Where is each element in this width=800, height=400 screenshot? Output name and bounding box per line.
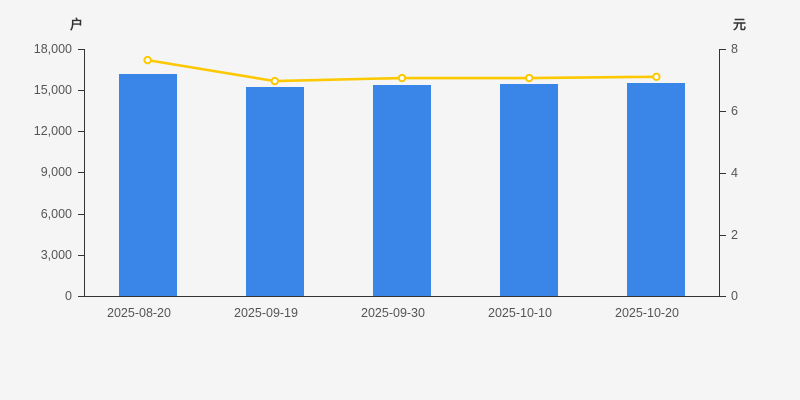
right-tick-mark <box>720 173 726 174</box>
right-tick-label: 6 <box>731 105 781 118</box>
line-marker-2025-10-20[interactable] <box>653 74 659 80</box>
left-tick-label: 12,000 <box>8 125 72 138</box>
bar-2025-09-19[interactable] <box>246 87 304 296</box>
x-axis-label: 2025-09-19 <box>207 307 325 320</box>
left-tick-mark <box>78 49 84 50</box>
left-tick-label: 9,000 <box>8 166 72 179</box>
x-axis-label: 2025-09-30 <box>334 307 452 320</box>
line-marker-2025-08-20[interactable] <box>144 57 150 63</box>
right-tick-label: 2 <box>731 229 781 242</box>
right-tick-label: 8 <box>731 43 781 56</box>
bar-2025-09-30[interactable] <box>373 85 431 296</box>
left-tick-mark <box>78 90 84 91</box>
x-axis-label: 2025-10-10 <box>461 307 579 320</box>
line-marker-2025-09-30[interactable] <box>399 75 405 81</box>
line-marker-2025-10-10[interactable] <box>526 75 532 81</box>
bar-2025-10-20[interactable] <box>627 83 685 296</box>
left-tick-label: 18,000 <box>8 43 72 56</box>
bar-2025-10-10[interactable] <box>500 84 558 296</box>
right-tick-label: 4 <box>731 167 781 180</box>
left-tick-mark <box>78 296 84 297</box>
right-tick-mark <box>720 49 726 50</box>
left-tick-mark <box>78 172 84 173</box>
left-tick-label: 3,000 <box>8 249 72 262</box>
bar-2025-08-20[interactable] <box>119 74 177 296</box>
right-axis-unit-label: 元 <box>733 14 746 33</box>
x-axis-label: 2025-08-20 <box>80 307 198 320</box>
left-axis-line <box>84 49 85 297</box>
left-tick-label: 6,000 <box>8 208 72 221</box>
right-tick-mark <box>720 111 726 112</box>
x-axis-line <box>84 296 720 297</box>
left-tick-mark <box>78 131 84 132</box>
right-tick-mark <box>720 296 726 297</box>
line-marker-2025-09-19[interactable] <box>272 78 278 84</box>
right-tick-mark <box>720 235 726 236</box>
chart-container: 户 元 18,000 15,000 12,000 9,000 6,000 3,0… <box>0 0 800 400</box>
left-tick-mark <box>78 214 84 215</box>
left-axis-unit-label: 户 <box>70 14 83 33</box>
left-tick-label: 0 <box>8 290 72 303</box>
left-tick-label: 15,000 <box>8 84 72 97</box>
right-tick-label: 0 <box>731 290 781 303</box>
x-axis-label: 2025-10-20 <box>588 307 706 320</box>
left-tick-mark <box>78 255 84 256</box>
line-path <box>148 60 657 81</box>
